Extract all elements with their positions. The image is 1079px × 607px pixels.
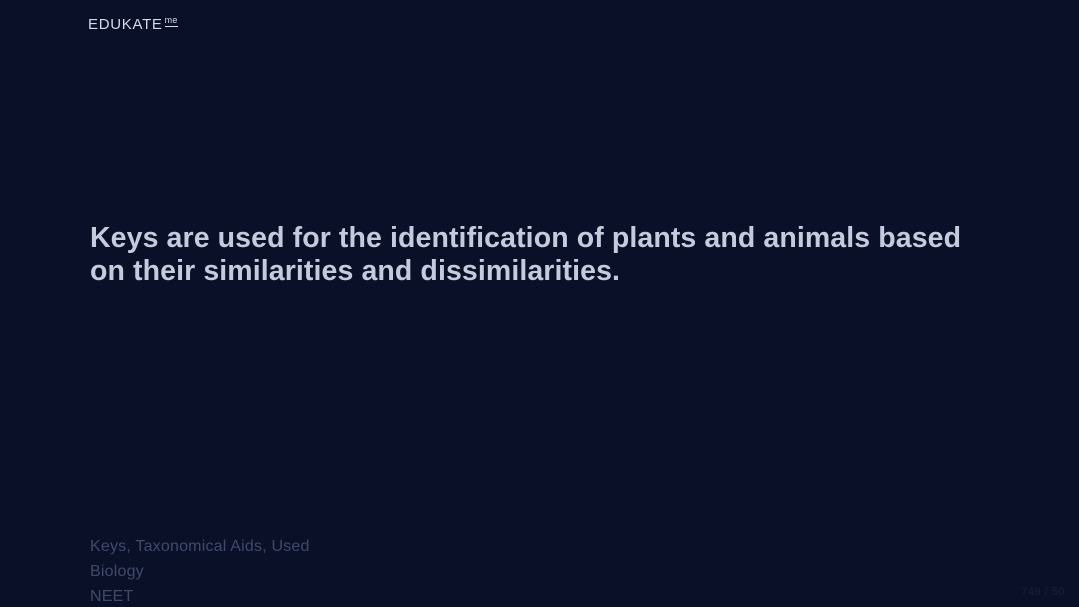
brand-superscript: me [165, 16, 178, 27]
brand-name: EDUKATE [88, 16, 163, 34]
brand-logo[interactable]: EDUKATE me [88, 16, 178, 34]
footer-topics: Keys, Taxonomical Aids, Used [90, 534, 310, 559]
slide-canvas: EDUKATE me Keys are used for the identif… [0, 0, 1079, 607]
slide-counter: 749 / 50 [1021, 586, 1065, 599]
footer-subject: Biology [90, 559, 310, 584]
slide-footer: Keys, Taxonomical Aids, Used Biology NEE… [90, 534, 310, 607]
slide-headline: Keys are used for the identification of … [90, 222, 1000, 287]
footer-exam: NEET [90, 584, 310, 607]
